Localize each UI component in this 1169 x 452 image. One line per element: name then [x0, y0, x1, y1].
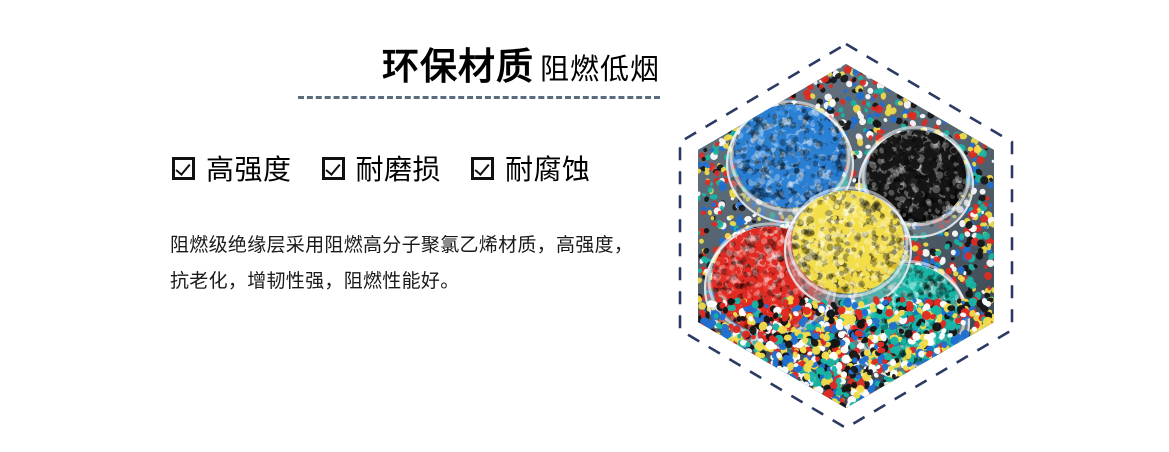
feature-item-2: 耐腐蚀 — [471, 148, 591, 188]
feature-label: 耐磨损 — [356, 148, 442, 188]
checkbox-checked-icon — [471, 157, 494, 180]
description-paragraph: 阻燃级绝缘层采用阻燃高分子聚氯乙烯材质，高强度， 抗老化，增韧性强，阻燃性能好。 — [170, 228, 670, 300]
checkbox-checked-icon — [322, 157, 345, 180]
promo-banner: 环保材质阻燃低烟 高强度 耐磨损 耐腐蚀 阻燃级绝缘层采用阻燃高分子聚氯乙烯材质… — [0, 0, 1169, 452]
checkbox-checked-icon — [172, 157, 195, 180]
page-title: 环保材质阻燃低烟 — [0, 48, 660, 85]
feature-label: 耐腐蚀 — [505, 148, 591, 188]
title-main-text: 环保材质 — [382, 46, 534, 87]
description-line-2: 抗老化，增韧性强，阻燃性能好。 — [170, 264, 670, 300]
title-sub-text: 阻燃低烟 — [540, 54, 660, 86]
description-line-1: 阻燃级绝缘层采用阻燃高分子聚氯乙烯材质，高强度， — [170, 228, 670, 264]
feature-list: 高强度 耐磨损 耐腐蚀 — [172, 148, 591, 188]
text-column: 环保材质阻燃低烟 高强度 耐磨损 耐腐蚀 阻燃级绝缘层采用阻燃高分子聚氯乙烯材质… — [0, 0, 690, 452]
feature-item-0: 高强度 — [172, 148, 292, 188]
feature-item-1: 耐磨损 — [322, 148, 442, 188]
title-dashed-divider — [298, 96, 660, 99]
hexagon-media-frame — [676, 40, 1016, 432]
feature-label: 高强度 — [206, 148, 292, 188]
pellet-bowl-center — [785, 187, 911, 308]
